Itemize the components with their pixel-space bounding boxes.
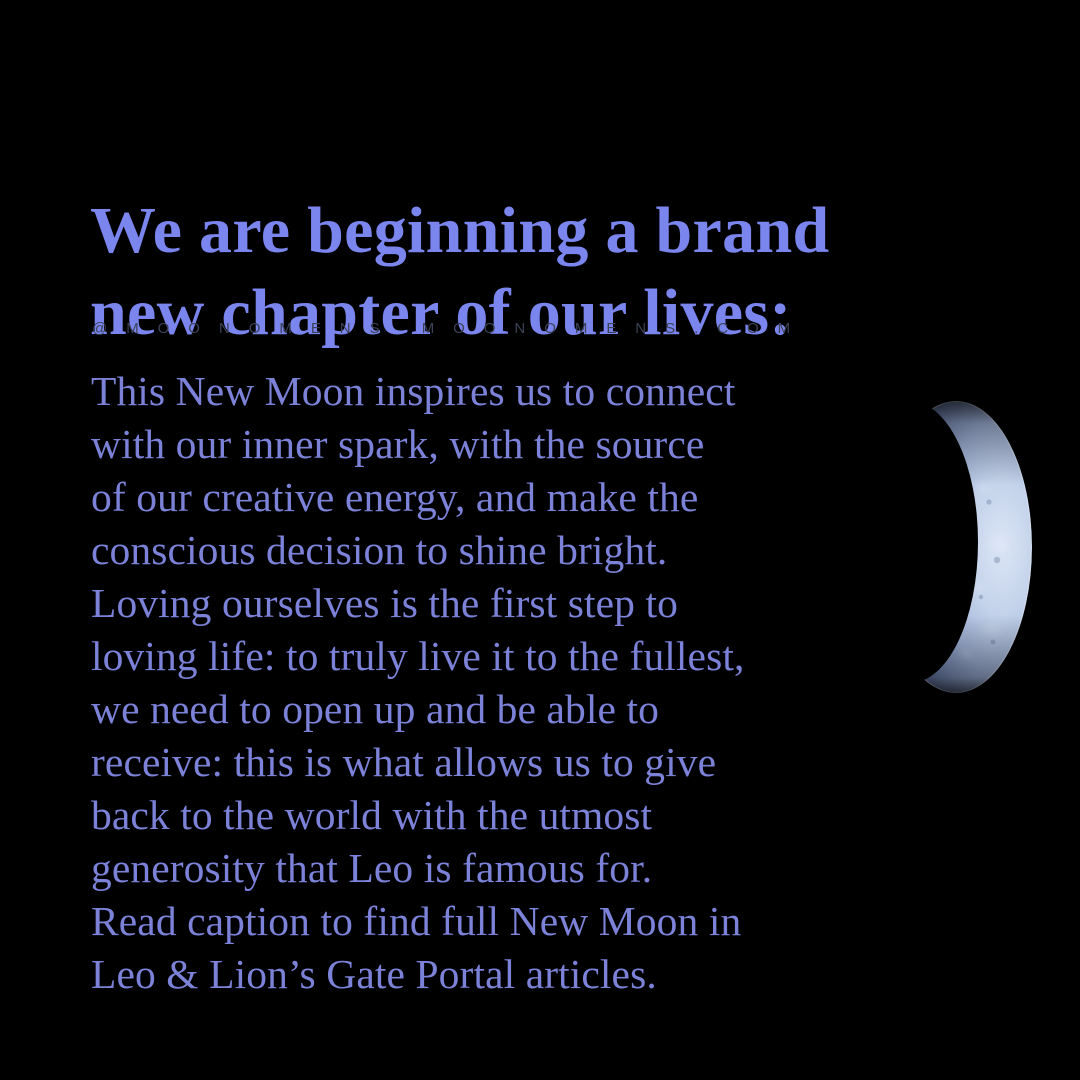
- moon-image: [866, 392, 1046, 702]
- waxing-crescent-moon-icon: [866, 392, 1046, 702]
- brand-handle: @ M O O N O M E N S M O O N O M E N S . …: [92, 320, 798, 338]
- quote-card: We are beginning a brand new chapter of …: [0, 0, 1080, 1080]
- body-text: This New Moon inspires us to connect wit…: [91, 365, 891, 1001]
